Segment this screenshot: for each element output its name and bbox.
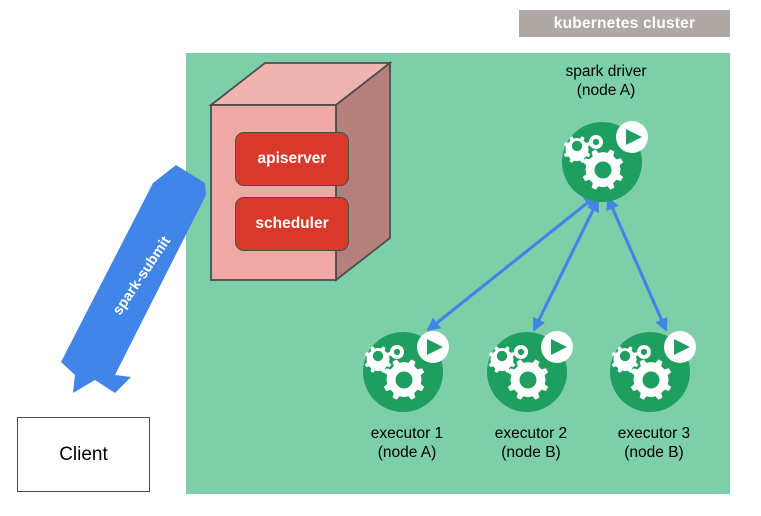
executor-node-3[interactable]: executor 3 (node B) — [604, 330, 704, 470]
scheduler-component[interactable]: scheduler — [235, 197, 349, 251]
executor-3-node-label: (node B) — [624, 444, 683, 461]
spark-node-icon — [604, 330, 704, 412]
executor-1-node-label: (node A) — [378, 444, 437, 461]
gear-icon-small — [514, 345, 528, 359]
spark-driver-node[interactable]: spark driver (node A) — [556, 62, 656, 202]
spark-submit-arrow — [55, 165, 225, 410]
spark-node-icon — [481, 330, 581, 412]
play-icon — [664, 331, 696, 363]
spark-node-icon — [556, 120, 656, 202]
play-icon — [616, 121, 648, 153]
spark-node-icon — [357, 330, 457, 412]
spark-driver-name: spark driver — [566, 63, 647, 80]
executor-1-name: executor 1 — [371, 425, 443, 442]
executor-2-caption: executor 2 (node B) — [463, 424, 599, 462]
executor-3-caption: executor 3 (node B) — [586, 424, 722, 462]
kube-control-plane-cube: apiserver scheduler — [203, 60, 413, 285]
gear-icon-small — [589, 135, 603, 149]
kubernetes-cluster-badge: kubernetes cluster — [519, 10, 730, 37]
executor-node-2[interactable]: executor 2 (node B) — [481, 330, 581, 470]
executor-2-name: executor 2 — [495, 425, 567, 442]
executor-node-1[interactable]: executor 1 (node A) — [357, 330, 457, 470]
gear-icon-small — [637, 345, 651, 359]
diagram-canvas: kubernetes cluster spark-submit apiserve… — [0, 0, 761, 516]
client-box[interactable]: Client — [17, 417, 150, 492]
play-icon — [417, 331, 449, 363]
gear-icon-small — [390, 345, 404, 359]
spark-driver-node-label: (node A) — [577, 82, 636, 99]
executor-1-caption: executor 1 (node A) — [339, 424, 475, 462]
spark-driver-caption: spark driver (node A) — [538, 62, 674, 100]
executor-3-name: executor 3 — [618, 425, 690, 442]
apiserver-component[interactable]: apiserver — [235, 132, 349, 186]
executor-2-node-label: (node B) — [501, 444, 560, 461]
play-icon — [541, 331, 573, 363]
